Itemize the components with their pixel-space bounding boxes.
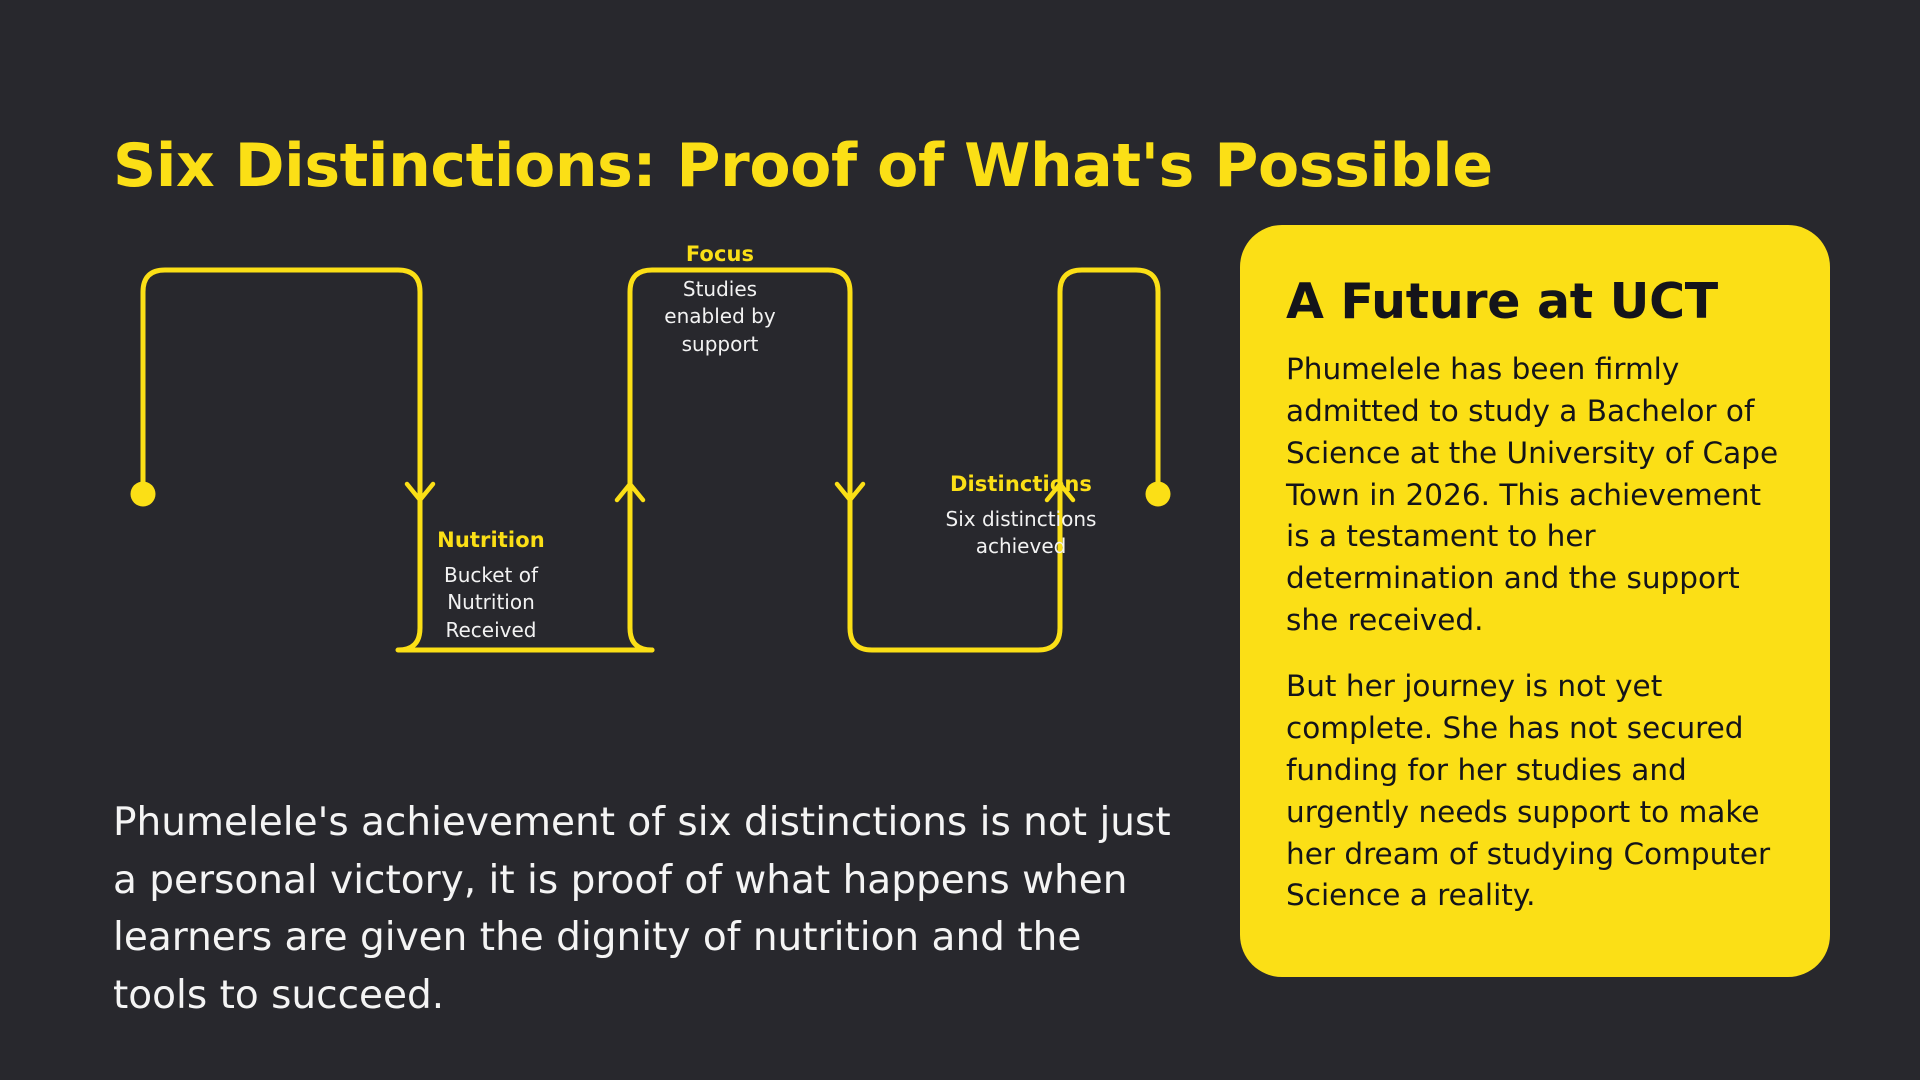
future-card: A Future at UCT Phumelele has been firml… [1240, 225, 1830, 977]
future-card-title: A Future at UCT [1286, 275, 1784, 329]
future-card-paragraph-2: But her journey is not yet complete. She… [1286, 666, 1784, 917]
flow-node-focus-title: Focus [605, 242, 835, 267]
page-title: Six Distinctions: Proof of What's Possib… [113, 135, 1493, 198]
flow-diagram: Nutrition Bucket of Nutrition Received F… [100, 250, 1200, 710]
flow-node-focus-desc: Studies enabled by support [640, 276, 800, 358]
future-card-paragraph-1: Phumelele has been firmly admitted to st… [1286, 349, 1784, 642]
slide-root: Six Distinctions: Proof of What's Possib… [0, 0, 1920, 1080]
flow-node-nutrition: Nutrition Bucket of Nutrition Received [376, 528, 606, 644]
flow-node-focus: Focus Studies enabled by support [605, 242, 835, 358]
flow-end-dot [1146, 482, 1171, 507]
flow-start-dot [131, 482, 156, 507]
flow-node-distinctions-title: Distinctions [906, 472, 1136, 497]
flow-node-distinctions-desc: Six distinctions achieved [941, 506, 1101, 560]
flow-node-nutrition-desc: Bucket of Nutrition Received [436, 562, 546, 644]
flow-node-nutrition-title: Nutrition [376, 528, 606, 553]
summary-paragraph: Phumelele's achievement of six distincti… [113, 794, 1173, 1025]
flow-node-distinctions: Distinctions Six distinctions achieved [906, 472, 1136, 561]
